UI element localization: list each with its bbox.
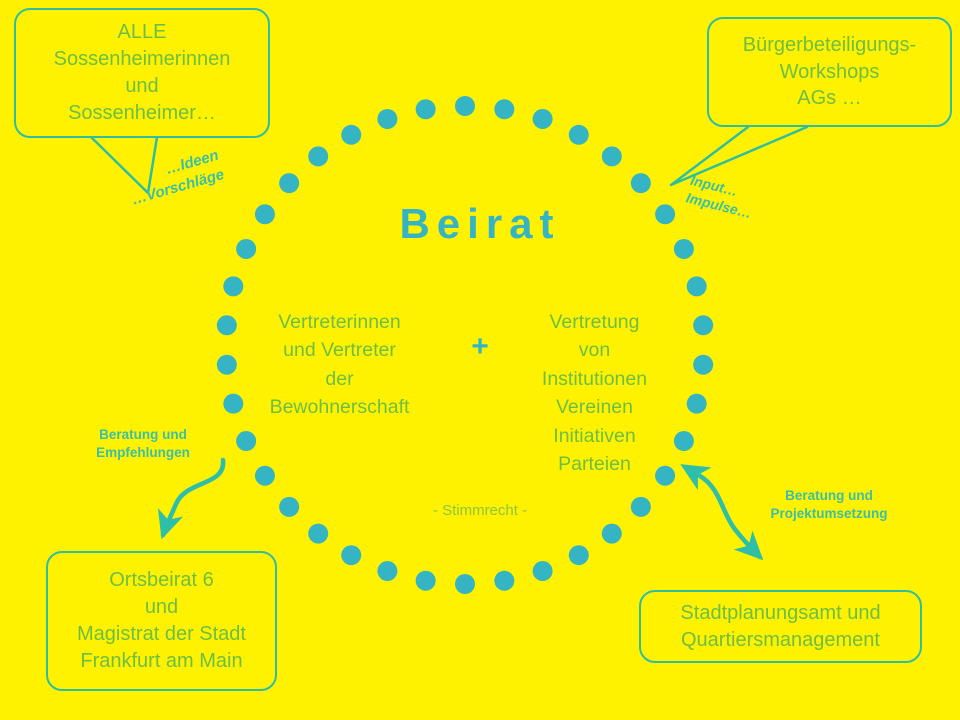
column-institutionen: Vertretung von Institutionen Vereinen In… — [507, 308, 682, 479]
ring-dot — [494, 99, 514, 119]
callout-buergerbeteiligung[interactable]: Bürgerbeteiligungs- Workshops AGs … — [707, 17, 952, 127]
callout-buergerbeteiligung-text: Bürgerbeteiligungs- Workshops AGs … — [709, 32, 950, 112]
ring-dot — [308, 146, 328, 166]
label-beratung-empfehlungen: Beratung und Empfehlungen — [78, 426, 208, 461]
callout-alle-text: ALLE Sossenheimerinnen und Sossenheimer… — [16, 19, 268, 126]
ring-dot — [223, 276, 243, 296]
callout-alle-sossenheimer[interactable]: ALLE Sossenheimerinnen und Sossenheimer… — [14, 8, 270, 138]
ring-dot — [494, 571, 514, 591]
ring-dot — [377, 109, 397, 129]
callout-ortsbeirat-text: Ortsbeirat 6 und Magistrat der Stadt Fra… — [48, 567, 275, 674]
ring-dot — [341, 545, 361, 565]
ring-dot — [533, 561, 553, 581]
ring-dot — [533, 109, 553, 129]
ring-dot — [341, 125, 361, 145]
callout-stadtplanungsamt[interactable]: Stadtplanungsamt und Quartiersmanagement — [639, 590, 922, 663]
callout-ortsbeirat-magistrat[interactable]: Ortsbeirat 6 und Magistrat der Stadt Fra… — [46, 551, 277, 691]
ring-dot — [377, 561, 397, 581]
ring-dot — [416, 571, 436, 591]
arrow-beratung-empfehlungen — [163, 460, 223, 535]
ring-dot — [223, 394, 243, 414]
callout-stadtplanungsamt-text: Stadtplanungsamt und Quartiersmanagement — [641, 600, 920, 654]
ring-dot — [455, 574, 475, 594]
column-bewohnerschaft: Vertreterinnen und Vertreter der Bewohne… — [252, 308, 427, 422]
ring-dot — [455, 96, 475, 116]
diagram-canvas: Beirat + Vertreterinnen und Vertreter de… — [0, 0, 960, 720]
ring-dot — [602, 524, 622, 544]
ring-dot — [687, 276, 707, 296]
ring-dot — [308, 524, 328, 544]
ring-dot — [416, 99, 436, 119]
ring-dot — [279, 173, 299, 193]
ring-dot — [631, 173, 651, 193]
label-beratung-projektumsetzung: Beratung und Projektumsetzung — [748, 487, 910, 522]
ring-dot — [569, 125, 589, 145]
ring-dot — [602, 146, 622, 166]
ring-dot — [687, 394, 707, 414]
ring-dot — [569, 545, 589, 565]
diagram-center-title: Beirat — [0, 200, 960, 248]
center-columns: Vertreterinnen und Vertreter der Bewohne… — [252, 308, 682, 479]
